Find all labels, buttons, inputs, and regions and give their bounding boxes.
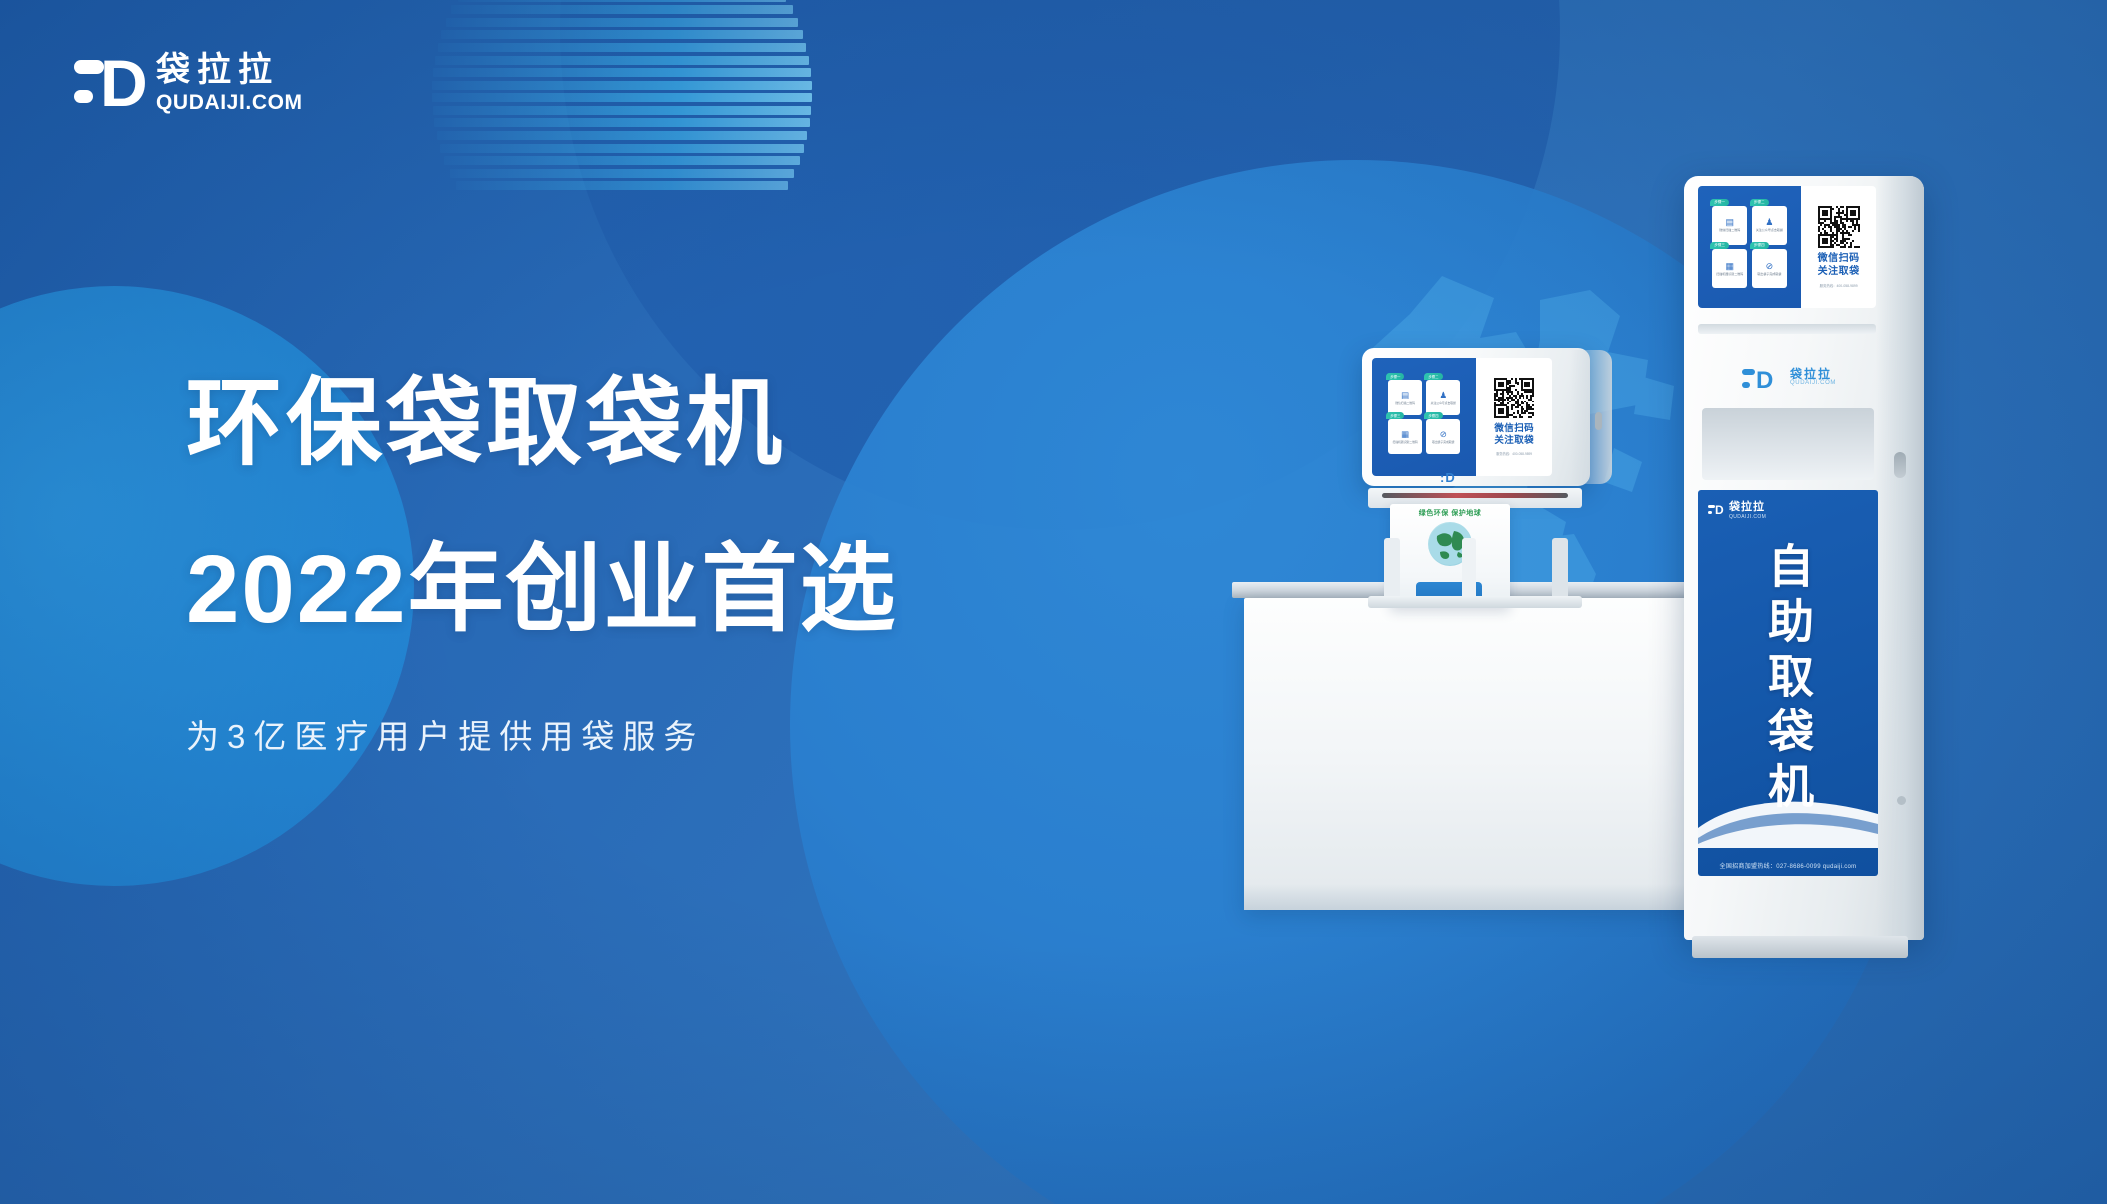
qr-code-icon: ▦ (1401, 429, 1409, 440)
headline-line-1: 环保袋取袋机 (186, 372, 898, 476)
svg-text:D: D (1756, 367, 1773, 394)
kiosk-panel-logo-cn: 袋拉拉 (1729, 498, 1766, 514)
step-badge: 步骤三 (1710, 242, 1729, 249)
countertop-brand-mark: :D (1440, 470, 1456, 485)
kiosk-body-logo: D 袋拉拉 QUDAIJI.COM (1698, 356, 1874, 400)
step-card-2[interactable]: 步骤二♟关注公众号点击取袋 (1752, 206, 1787, 245)
step-label: 取出袋子完成取袋 (1757, 273, 1781, 276)
step-card-4[interactable]: 步骤四⊘取出袋子完成取袋 (1752, 249, 1787, 288)
kiosk-lock-icon[interactable] (1897, 796, 1906, 805)
step-label: 微信扫描二维码 (1719, 229, 1740, 232)
kiosk-steps-panel: 步骤一▤微信扫描二维码步骤二♟关注公众号点击取袋步骤三▦扫描机器识别二维码步骤四… (1698, 186, 1801, 308)
headline-line-2: 2022年创业首选 (186, 538, 898, 642)
step-card-1[interactable]: 步骤一▤微信扫描二维码 (1712, 206, 1747, 245)
step-card-2[interactable]: 步骤二♟关注公众号点击取袋 (1426, 380, 1460, 415)
step-badge: 步骤一 (1386, 373, 1404, 380)
kiosk-panel-footer-text: 全国招商加盟热线：027-8686-0099 qudaiji.com (1698, 861, 1878, 870)
kiosk-side-panel (1876, 176, 1924, 940)
step-label: 扫描机器识别二维码 (1716, 273, 1743, 276)
countertop-dispenser[interactable]: 步骤一▤微信扫描二维码步骤二♟关注公众号点击取袋步骤三▦扫描机器识别二维码步骤四… (1362, 348, 1612, 598)
wechat-qr-code-icon[interactable] (1818, 206, 1860, 248)
follow-account-icon: ♟ (1439, 390, 1447, 401)
step-card-1[interactable]: 步骤一▤微信扫描二维码 (1388, 380, 1422, 415)
follow-account-icon: ♟ (1765, 217, 1773, 228)
countertop-display[interactable]: 步骤一▤微信扫描二维码步骤二♟关注公众号点击取袋步骤三▦扫描机器识别二维码步骤四… (1372, 358, 1552, 476)
svg-text:D: D (1715, 503, 1724, 517)
step-badge: 步骤四 (1424, 412, 1442, 419)
logo-mark-icon: D (74, 48, 140, 116)
countertop-qr-panel: 微信扫码 关注取袋 服务热线：400-058-9899 (1476, 358, 1552, 476)
qr-module (1858, 246, 1860, 248)
kiosk-panel-vertical-title: 自助取袋机 (1761, 542, 1815, 817)
kiosk-handle-icon[interactable] (1894, 452, 1906, 478)
step-label: 扫描机器识别二维码 (1393, 441, 1418, 444)
countertop-cta-text: 微信扫码 关注取袋 (1494, 423, 1534, 447)
qr-module (1532, 416, 1534, 418)
brand-logo-text: 袋拉拉 QUDAIJI.COM (156, 51, 303, 116)
countertop-screen-content: 步骤一▤微信扫描二维码步骤二♟关注公众号点击取袋步骤三▦扫描机器识别二维码步骤四… (1372, 358, 1552, 476)
step-label: 关注公众号点击取袋 (1431, 402, 1456, 405)
check-circle-icon: ⊘ (1440, 429, 1447, 440)
kiosk-bag-dispense-opening (1702, 408, 1874, 480)
countertop-side-cap (1570, 350, 1612, 484)
countertop-service-tel: 服务热线：400-058-9899 (1496, 451, 1532, 456)
kiosk-panel-wave-decoration (1698, 784, 1878, 848)
kiosk-cta-text: 微信扫码 关注取袋 (1818, 253, 1860, 278)
countertop-base-plate (1368, 596, 1582, 608)
banner-stage: D 袋拉拉 QUDAIJI.COM 环保袋取袋机 2022年创业首选 为3亿医疗… (0, 0, 2107, 1204)
hero-copy: 环保袋取袋机 2022年创业首选 为3亿医疗用户提供用袋服务 (186, 372, 898, 756)
step-label: 微信扫描二维码 (1395, 402, 1415, 405)
check-circle-icon: ⊘ (1766, 261, 1774, 272)
kiosk-service-tel: 服务热线：400-058-9899 (1820, 283, 1858, 288)
kiosk-cta-line1: 微信扫码 (1818, 253, 1860, 266)
brand-name-cn: 袋拉拉 (156, 51, 303, 89)
brand-logo[interactable]: D 袋拉拉 QUDAIJI.COM (74, 48, 303, 116)
step-badge: 步骤一 (1710, 199, 1729, 206)
kiosk-panel-logo-en: QUDAIJI.COM (1729, 514, 1766, 520)
kiosk-screen-content: 步骤一▤微信扫描二维码步骤二♟关注公众号点击取袋步骤三▦扫描机器识别二维码步骤四… (1698, 186, 1876, 308)
step-badge: 步骤四 (1750, 242, 1769, 249)
kiosk-panel-mini-logo: D 袋拉拉 QUDAIJI.COM (1708, 498, 1766, 520)
logo-letter-d: D (100, 52, 147, 114)
qr-code-icon: ▦ (1726, 261, 1735, 272)
wechat-qr-code-icon[interactable] (1494, 378, 1534, 418)
kiosk-body-logo-en: QUDAIJI.COM (1790, 380, 1836, 386)
logo-bar-bottom-icon (74, 90, 93, 103)
step-badge: 步骤二 (1750, 199, 1769, 206)
hero-subtitle: 为3亿医疗用户提供用袋服务 (186, 718, 898, 756)
bag-eco-slogan: 绿色环保 保护地球 (1390, 508, 1510, 518)
countertop-cta-line1: 微信扫码 (1494, 423, 1534, 435)
floor-standing-kiosk[interactable]: 步骤一▤微信扫描二维码步骤二♟关注公众号点击取袋步骤三▦扫描机器识别二维码步骤四… (1684, 176, 1924, 940)
kiosk-qr-panel: 微信扫码 关注取袋 服务热线：400-058-9899 (1801, 186, 1876, 308)
countertop-power-button[interactable] (1595, 412, 1602, 430)
step-label: 取出袋子完成取袋 (1432, 441, 1454, 444)
kiosk-base (1692, 936, 1908, 958)
countertop-steps-panel: 步骤一▤微信扫描二维码步骤二♟关注公众号点击取袋步骤三▦扫描机器识别二维码步骤四… (1372, 358, 1476, 476)
step-card-3[interactable]: 步骤三▦扫描机器识别二维码 (1712, 249, 1747, 288)
phone-scan-icon: ▤ (1726, 217, 1735, 228)
kiosk-graphic-panel: D 袋拉拉 QUDAIJI.COM 自助取袋机 全国招商加盟热线：027-868… (1698, 490, 1878, 876)
kiosk-card-slot (1698, 324, 1876, 334)
step-badge: 步骤二 (1424, 373, 1442, 380)
step-card-4[interactable]: 步骤四⊘取出袋子完成取袋 (1426, 419, 1460, 454)
step-label: 关注公众号点击取袋 (1756, 229, 1783, 232)
kiosk-cta-line2: 关注取袋 (1818, 266, 1860, 279)
countertop-cta-line2: 关注取袋 (1494, 435, 1534, 447)
phone-scan-icon: ▤ (1401, 390, 1409, 401)
brand-name-en: QUDAIJI.COM (156, 92, 303, 114)
kiosk-display[interactable]: 步骤一▤微信扫描二维码步骤二♟关注公众号点击取袋步骤三▦扫描机器识别二维码步骤四… (1698, 186, 1876, 308)
step-card-3[interactable]: 步骤三▦扫描机器识别二维码 (1388, 419, 1422, 454)
step-badge: 步骤三 (1386, 412, 1404, 419)
